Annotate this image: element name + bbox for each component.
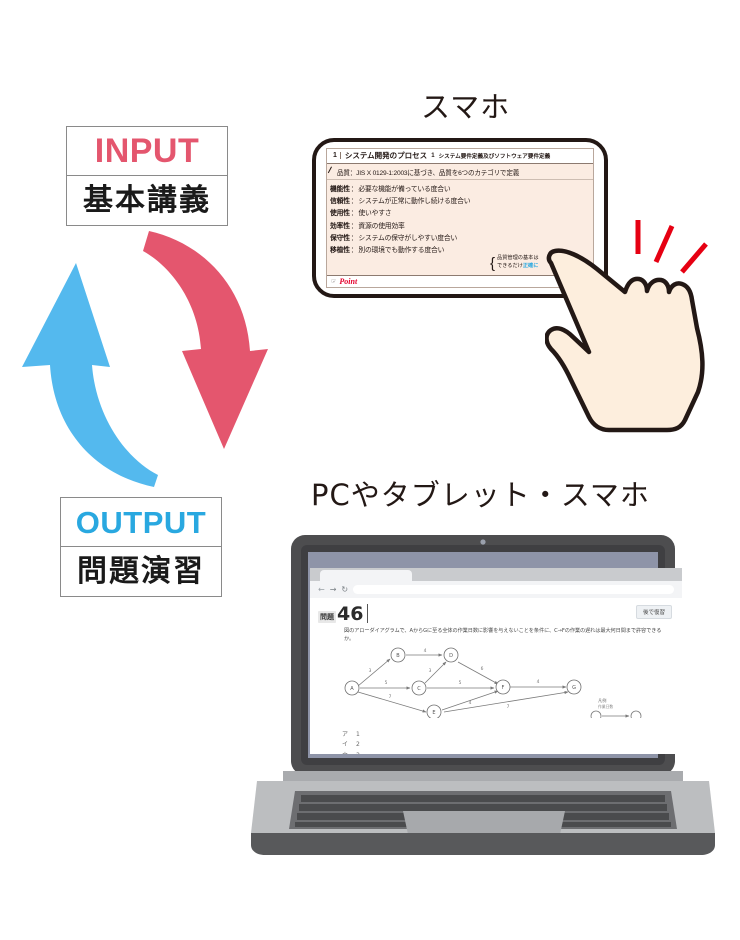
input-label-box: INPUT 基本講義 (66, 126, 228, 226)
choice-item[interactable]: ア1 (342, 730, 682, 741)
colon: ： (350, 207, 359, 217)
category-key: 保守性 (330, 232, 350, 242)
input-subtitle: 基本講義 (83, 186, 211, 216)
reload-icon[interactable]: ↻ (341, 585, 348, 594)
category-key: 効率性 (330, 220, 350, 230)
edge-weight-C-F: 5 (459, 680, 462, 686)
browser-toolbar[interactable]: ← → ↻ (310, 581, 682, 598)
arrow-diagram-svg: A B C D E F G 3 4 5 3 5 6 (330, 646, 650, 718)
hand-pointer-icon: ☞ (331, 278, 336, 285)
browser-tab-strip[interactable] (310, 568, 682, 581)
category-value: 別の環境でも動作する度合い (358, 244, 444, 254)
output-title: OUTPUT (76, 507, 206, 538)
list-item: 信頼性 ： システムが正常に動作し続ける度合い (330, 194, 590, 206)
question-label: 問題 (318, 611, 336, 623)
colon: ： (350, 232, 359, 242)
category-key: 移植性 (330, 244, 350, 254)
input-title-row: INPUT (67, 127, 227, 176)
choice-value: 2 (356, 741, 360, 748)
edge-weight-A-B: 3 (369, 668, 372, 674)
choice-value: 3 (356, 752, 360, 754)
node-label-E: E (432, 710, 435, 716)
chapter-title: システム開発のプロセス (345, 150, 427, 161)
cycle-arrows (10, 225, 300, 505)
input-subtitle-row: 基本講義 (67, 176, 227, 225)
input-title: INPUT (95, 134, 200, 168)
category-key: 使用性 (330, 207, 350, 217)
category-value: システムの保守がしやすい度合い (358, 232, 457, 242)
edge-weight-A-C: 5 (385, 680, 388, 686)
phone-content-header: 1 システム開発のプロセス 1 システム要件定義及びソフトウェア要件定義 (327, 149, 593, 164)
node-label-B: B (396, 653, 400, 659)
arrow-diagram: A B C D E F G 3 4 5 3 5 6 (310, 644, 682, 722)
colon: ： (350, 183, 359, 193)
output-title-row: OUTPUT (61, 498, 221, 547)
node-label-D: D (449, 653, 453, 659)
heading-pc: PCやタブレット・スマホ (311, 472, 650, 514)
edge-weight-A-E: 7 (389, 694, 392, 700)
node-label-A: A (350, 686, 354, 692)
brace-icon: { (490, 256, 495, 271)
category-value: 必要な機能が備っている度合い (358, 183, 450, 193)
heading-smartphone: スマホ (421, 84, 510, 126)
colon: ： (350, 220, 359, 230)
edge-D-F (458, 662, 498, 684)
address-bar[interactable] (353, 585, 674, 594)
output-label-box: OUTPUT 問題演習 (60, 497, 222, 597)
choice-key: イ (342, 740, 356, 751)
hand-shape (547, 251, 703, 430)
quiz-page: 後で復習 問題 46 図のアローダイアグラムで、AからGに至る全体の作業日数に影… (310, 598, 682, 754)
edge-weight-E-F: 4 (469, 700, 472, 706)
quality-definition-line: 品質：JIS X 0129-1:2003に基づき、品質を6つのカテゴリで定義 (327, 164, 593, 180)
webcam-icon (480, 539, 485, 544)
point-label: Point (339, 277, 357, 286)
output-subtitle: 問題演習 (77, 557, 205, 587)
category-value: 資源の使用効率 (358, 220, 404, 230)
pointing-hand-icon (545, 220, 740, 450)
category-value: システムが正常に動作し続ける度合い (358, 195, 470, 205)
chapter-number: 1 (330, 152, 341, 159)
review-later-button[interactable]: 後で復習 (636, 605, 672, 619)
edge-weight-E-G: 7 (507, 704, 510, 710)
legend-node-right (631, 711, 641, 718)
question-prompt: 図のアローダイアグラムで、AからGに至る全体の作業日数に影響を与えないことを条件… (310, 623, 682, 644)
choice-value: 1 (356, 731, 360, 738)
arrow-right-icon[interactable]: → (330, 585, 337, 594)
browser-tab[interactable] (320, 570, 412, 581)
choice-item[interactable]: イ2 (342, 740, 682, 751)
node-label-G: G (572, 685, 576, 691)
choice-key: ア (342, 730, 356, 741)
node-label-C: C (417, 686, 421, 692)
text-caret (367, 604, 368, 623)
legend-label: 凡例 (598, 697, 606, 704)
edge-A-E (358, 692, 426, 712)
illustration-canvas: INPUT 基本講義 OUTPUT 問題演習 スマホ PCやタブレット・スマホ … (0, 0, 740, 940)
choice-key: ウ (342, 751, 356, 754)
question-number: 46 (337, 605, 363, 623)
section-title: システム要件定義及びソフトウェア要件定義 (439, 152, 551, 160)
edge-weight-B-D: 4 (424, 648, 427, 654)
category-key: 信頼性 (330, 195, 350, 205)
list-item: 機能性 ： 必要な機能が備っている度合い (330, 182, 590, 194)
laptop-front-lip (251, 833, 715, 855)
arrow-down-red (143, 231, 268, 449)
edge-weight-D-F: 6 (481, 666, 484, 672)
node-label-F: F (502, 685, 505, 691)
callout-line-2-pre: できるだけ (497, 263, 523, 269)
section-number: 1 (431, 153, 434, 159)
edge-weight-F-G: 4 (537, 679, 540, 685)
diagram-legend: 凡例 作業日数 (591, 697, 641, 718)
browser-window[interactable]: ← → ↻ 後で復習 問題 46 図のアローダイアグラムで、AからGに至る全体の… (310, 568, 682, 754)
colon: ： (350, 244, 359, 254)
output-subtitle-row: 問題演習 (61, 547, 221, 596)
callout-line-2-highlight: 正確に (523, 263, 539, 269)
list-item: 使用性 ： 使いやすさ (330, 206, 590, 218)
category-value: 使いやすさ (358, 207, 391, 217)
category-key: 機能性 (330, 183, 350, 193)
colon: ： (350, 195, 359, 205)
arrow-up-blue (22, 263, 158, 487)
arrow-left-icon[interactable]: ← (318, 585, 325, 594)
edge-weight-C-D: 3 (429, 668, 432, 674)
legend-node-left (591, 711, 601, 718)
answer-choices[interactable]: ア1 イ2 ウ3 エ4 (310, 722, 682, 754)
question-heading: 問題 46 (310, 598, 682, 623)
choice-item[interactable]: ウ3 (342, 751, 682, 754)
laptop-hinge (283, 771, 683, 781)
legend-sub: 作業日数 (598, 704, 613, 709)
